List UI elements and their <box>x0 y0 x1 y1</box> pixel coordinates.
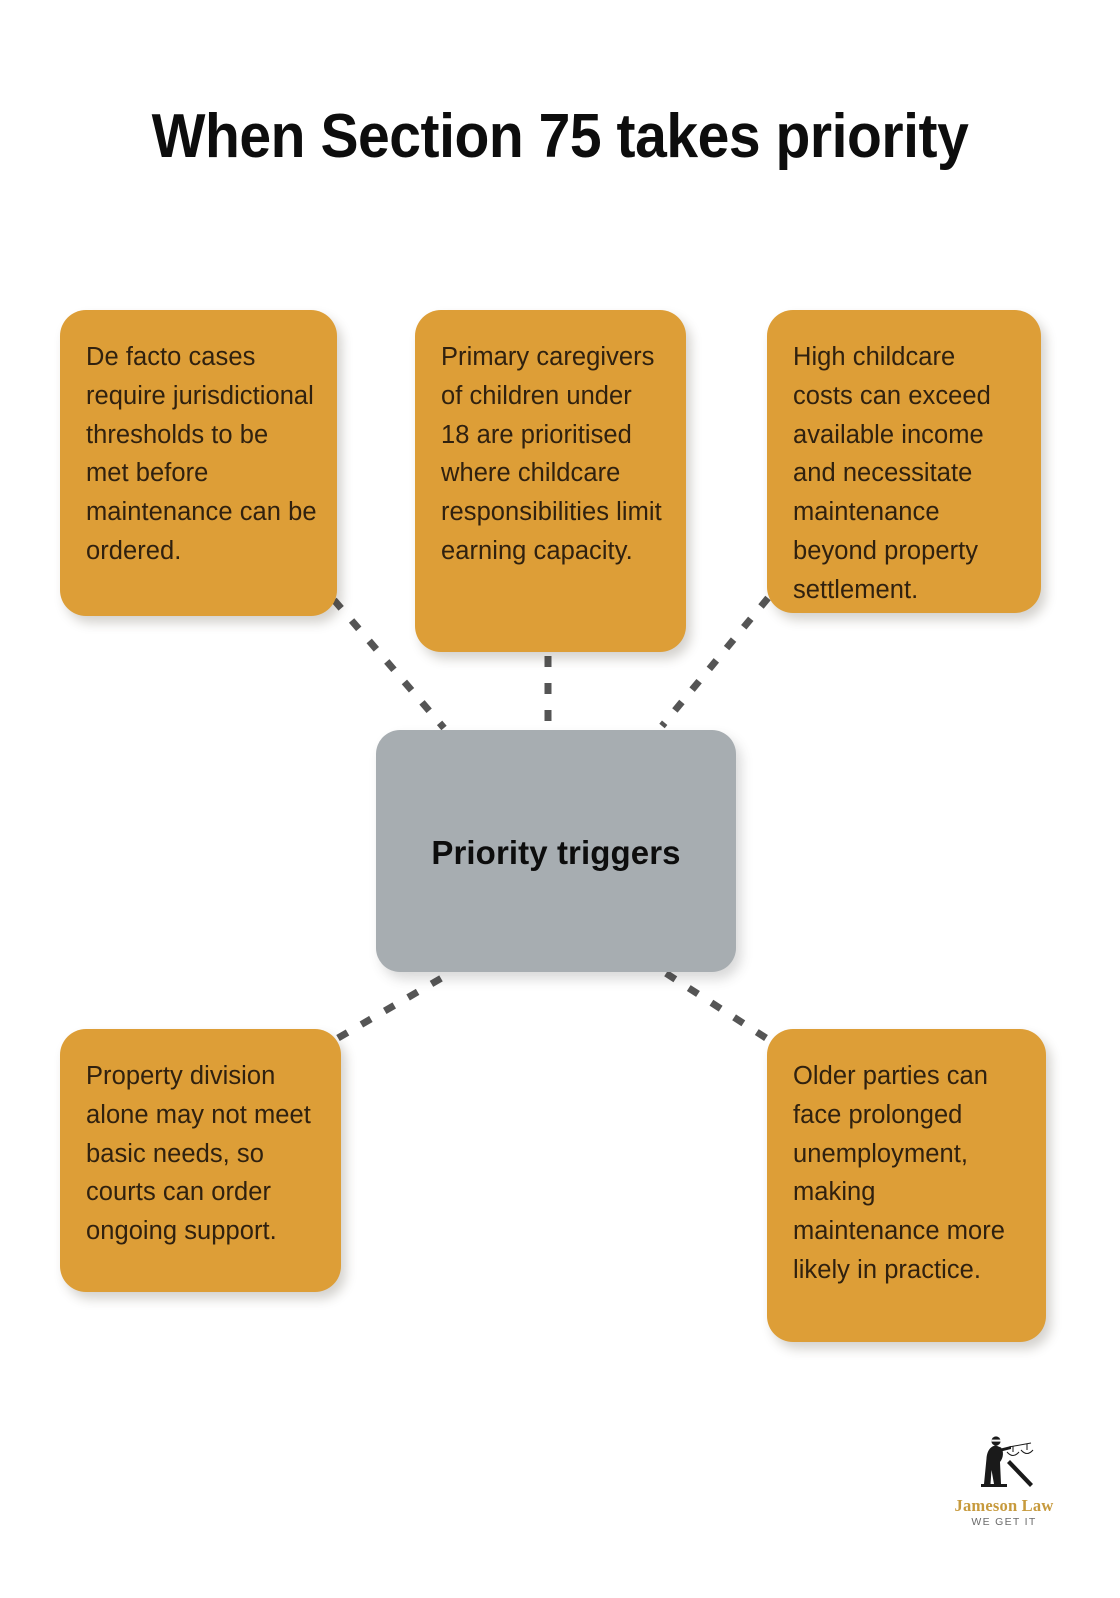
node-property-division[interactable]: Property division alone may not meet bas… <box>60 1029 341 1292</box>
node-de-facto-cases[interactable]: De facto cases require jurisdictional th… <box>60 310 337 616</box>
brand-logo: Jameson Law WE GET IT <box>948 1432 1060 1538</box>
connector-node-5-to-hub <box>664 972 766 1038</box>
hub-priority-triggers[interactable]: Priority triggers <box>376 730 736 972</box>
logo-name: Jameson Law <box>948 1497 1060 1514</box>
node-older-parties[interactable]: Older parties can face prolonged unemplo… <box>767 1029 1046 1342</box>
node-label: Older parties can face prolonged unemplo… <box>793 1057 1026 1290</box>
node-label: De facto cases require jurisdictional th… <box>86 338 317 571</box>
node-high-childcare-costs[interactable]: High childcare costs can exceed availabl… <box>767 310 1041 613</box>
node-label: Property division alone may not meet bas… <box>86 1057 321 1251</box>
hub-label: Priority triggers <box>431 834 680 872</box>
node-label: Primary caregivers of children under 18 … <box>441 338 666 571</box>
node-primary-caregivers[interactable]: Primary caregivers of children under 18 … <box>415 310 686 652</box>
lady-justice-scales-icon <box>969 1432 1039 1496</box>
infographic-canvas: When Section 75 takes priority De facto … <box>0 0 1120 1598</box>
logo-tagline: WE GET IT <box>948 1516 1060 1528</box>
node-label: High childcare costs can exceed availabl… <box>793 338 1021 609</box>
connector-node-4-to-hub <box>338 972 452 1038</box>
page-title: When Section 75 takes priority <box>45 104 1075 169</box>
